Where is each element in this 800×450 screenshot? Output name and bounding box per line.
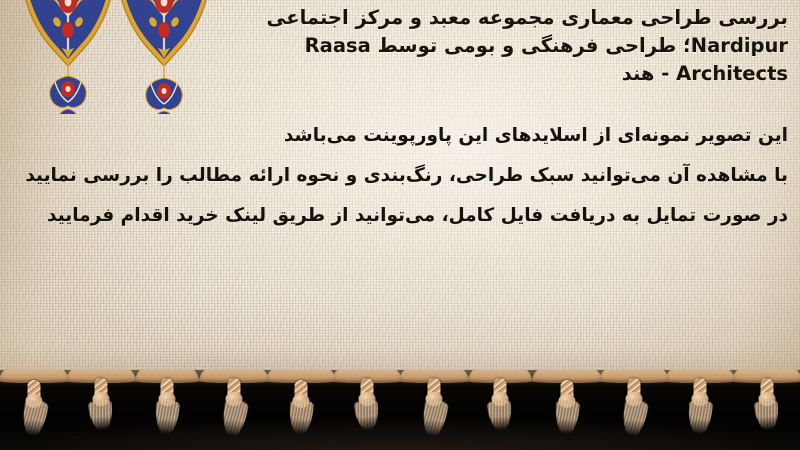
slide-text-layer: بررسی طراحی معماری مجموعه معبد و مرکز اج… [0, 0, 800, 380]
fringe-tassel [1, 370, 68, 450]
slide-canvas: بررسی طراحی معماری مجموعه معبد و مرکز اج… [0, 0, 800, 450]
title-line-1: بررسی طراحی معماری مجموعه معبد و مرکز اج… [8, 4, 788, 32]
fringe-tassel [334, 370, 401, 450]
carpet-fringe-band [0, 370, 800, 450]
fringe-tassel [267, 370, 334, 450]
carpet-fringe-row [0, 370, 800, 450]
fringe-tassel [600, 370, 667, 450]
body-line-3: در صورت تمایل به دریافت فایل کامل، می‌تو… [8, 196, 788, 236]
fringe-tassel [134, 370, 201, 450]
fringe-tassel [733, 370, 800, 450]
fringe-tassel [400, 370, 467, 450]
slide-title: بررسی طراحی معماری مجموعه معبد و مرکز اج… [8, 4, 788, 88]
fringe-tassel [667, 370, 734, 450]
title-line-2: Nardipur؛ طراحی فرهنگی و بومی توسط Raasa [8, 32, 788, 60]
title-line-3: Architects - هند [8, 60, 788, 88]
fringe-tassel [534, 370, 601, 450]
fringe-tassel [467, 370, 534, 450]
fringe-tassel [201, 370, 268, 450]
fringe-tassel [67, 370, 134, 450]
slide-body-text: این تصویر نمونه‌ای از اسلایدهای این پاور… [8, 116, 788, 236]
body-line-1: این تصویر نمونه‌ای از اسلایدهای این پاور… [8, 116, 788, 156]
body-line-2: با مشاهده آن می‌توانید سبک طراحی، رنگ‌بن… [8, 156, 788, 196]
